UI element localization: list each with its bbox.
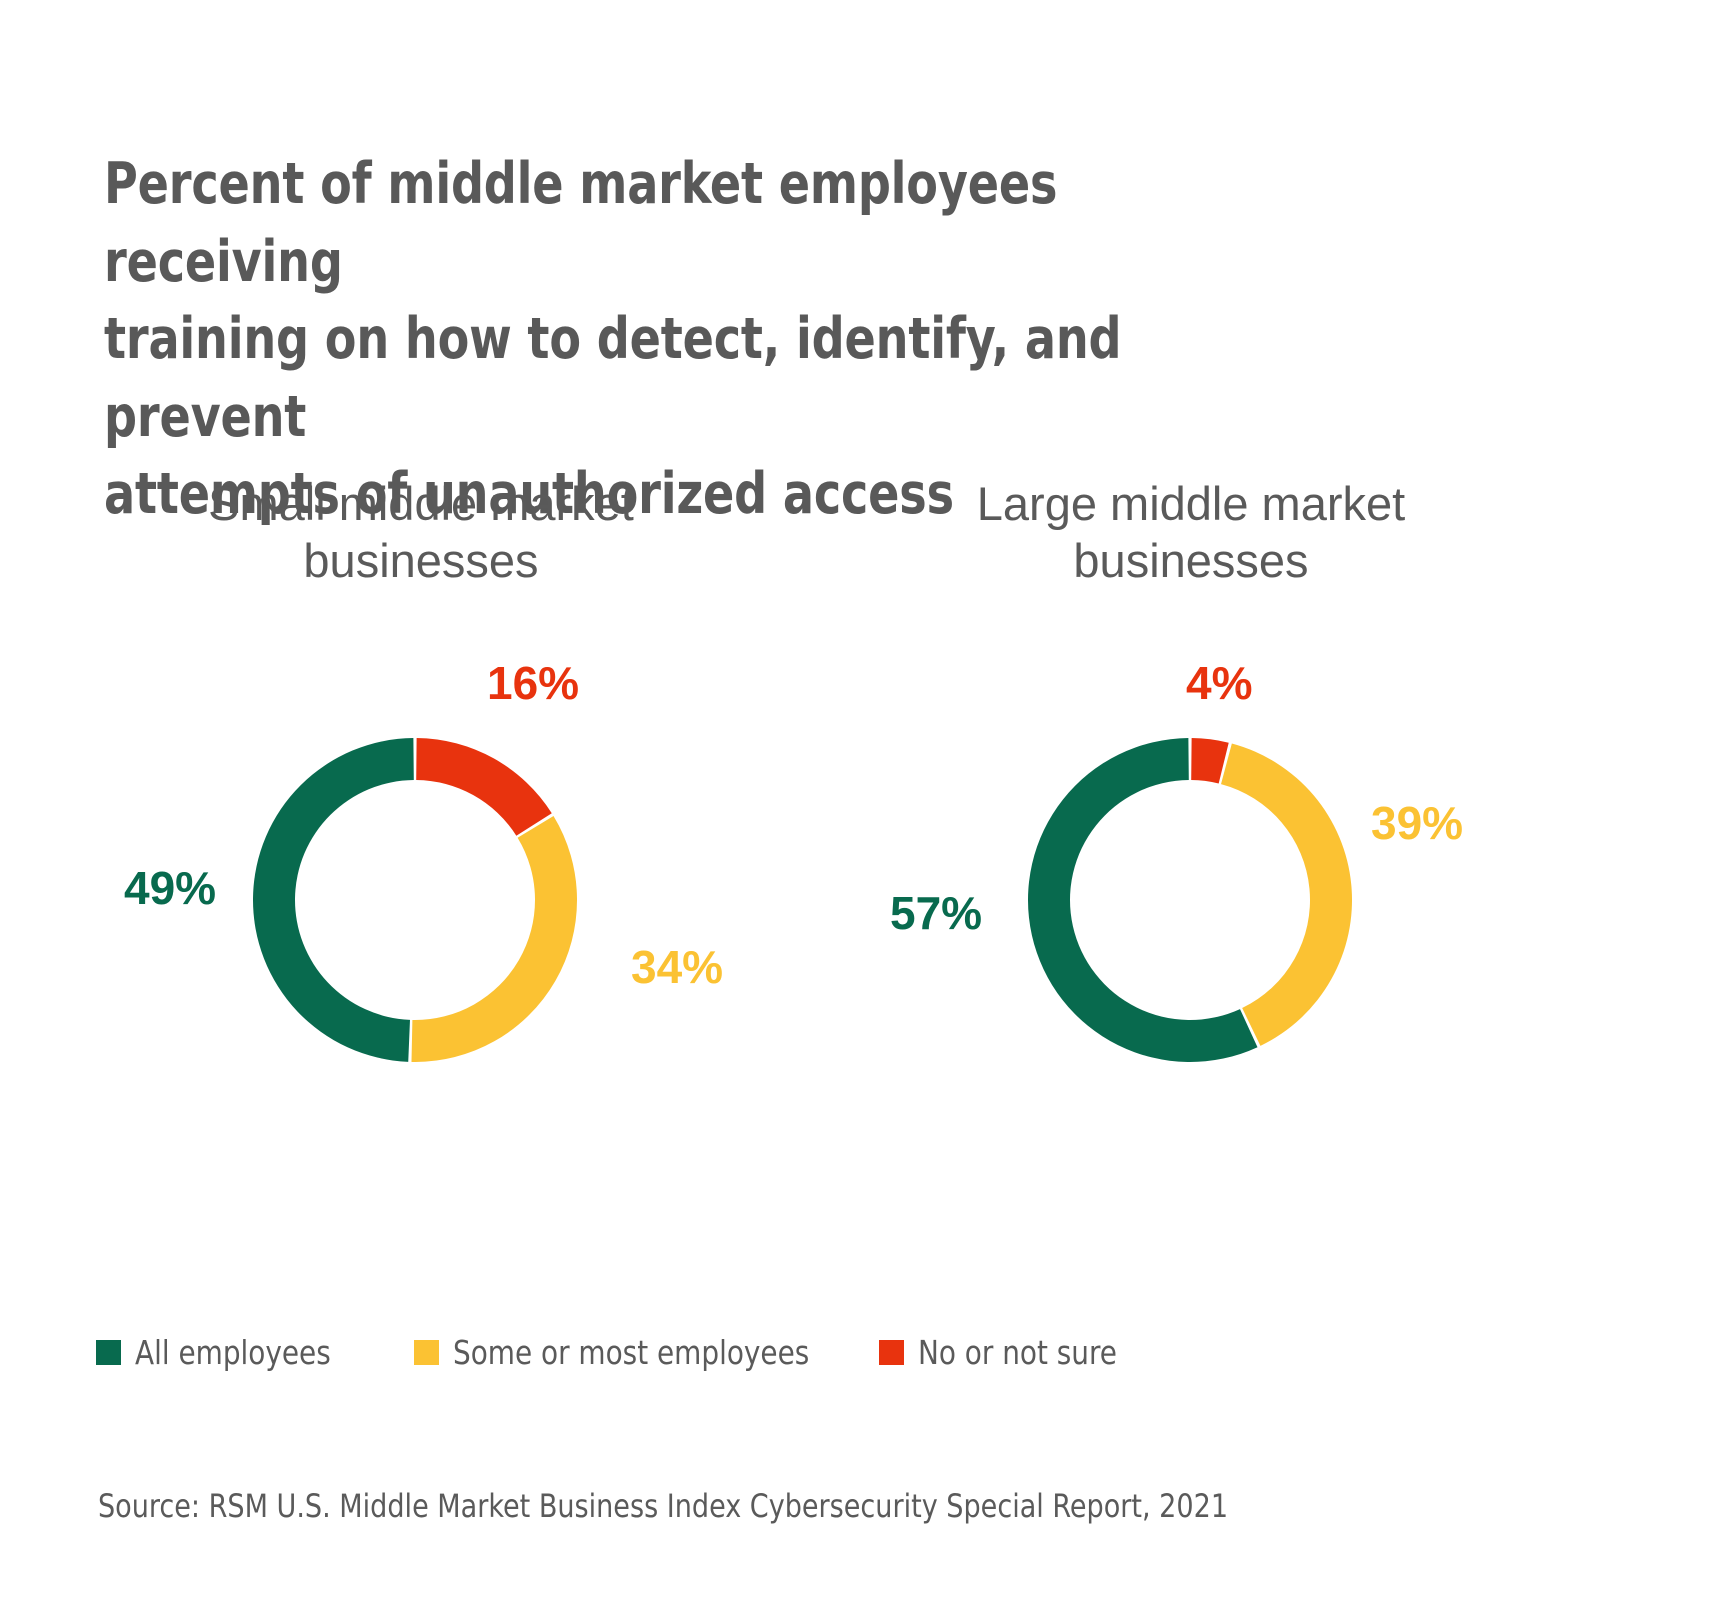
donut-slice	[253, 738, 414, 1062]
value-label-small-no-or-not-sure: 16%	[487, 660, 579, 706]
legend-item-all-employees: All employees	[96, 1330, 343, 1374]
panel-heading-large-middle-market: Large middle market businesses	[911, 475, 1471, 590]
donut-slice	[416, 738, 552, 836]
donut-segments-small	[253, 738, 577, 1062]
donut-segments-large	[1028, 738, 1352, 1062]
donut-slice	[411, 816, 577, 1062]
chart-canvas: Percent of middle market employees recei…	[0, 0, 1710, 1616]
donut-svg-large	[1028, 738, 1352, 1062]
donut-slice	[1221, 744, 1352, 1046]
legend-label-no-or-not-sure: No or not sure	[918, 1333, 1117, 1372]
legend-swatch-icon-some-or-most-employees	[414, 1340, 439, 1365]
value-label-small-all-employees: 49%	[124, 865, 216, 911]
value-label-small-some-or-most: 34%	[631, 944, 723, 990]
legend-swatch-icon-all-employees	[96, 1340, 121, 1365]
panel-heading-small-middle-market: Small middle market businesses	[141, 475, 701, 590]
value-label-large-some-or-most: 39%	[1371, 800, 1463, 846]
donut-chart-small-middle-market	[253, 738, 577, 1062]
donut-slice	[1028, 738, 1258, 1062]
legend-label-some-or-most-employees: Some or most employees	[453, 1333, 809, 1372]
chart-legend: All employees Some or most employees No …	[96, 1330, 1346, 1374]
legend-label-all-employees: All employees	[135, 1333, 331, 1372]
donut-svg-small	[253, 738, 577, 1062]
source-note: Source: RSM U.S. Middle Market Business …	[98, 1487, 1228, 1525]
legend-item-some-or-most-employees: Some or most employees	[414, 1330, 832, 1374]
donut-chart-large-middle-market	[1028, 738, 1352, 1062]
legend-item-no-or-not-sure: No or not sure	[879, 1330, 1130, 1374]
value-label-large-no-or-not-sure: 4%	[1186, 660, 1252, 706]
value-label-large-all-employees: 57%	[890, 890, 982, 936]
legend-swatch-icon-no-or-not-sure	[879, 1340, 904, 1365]
